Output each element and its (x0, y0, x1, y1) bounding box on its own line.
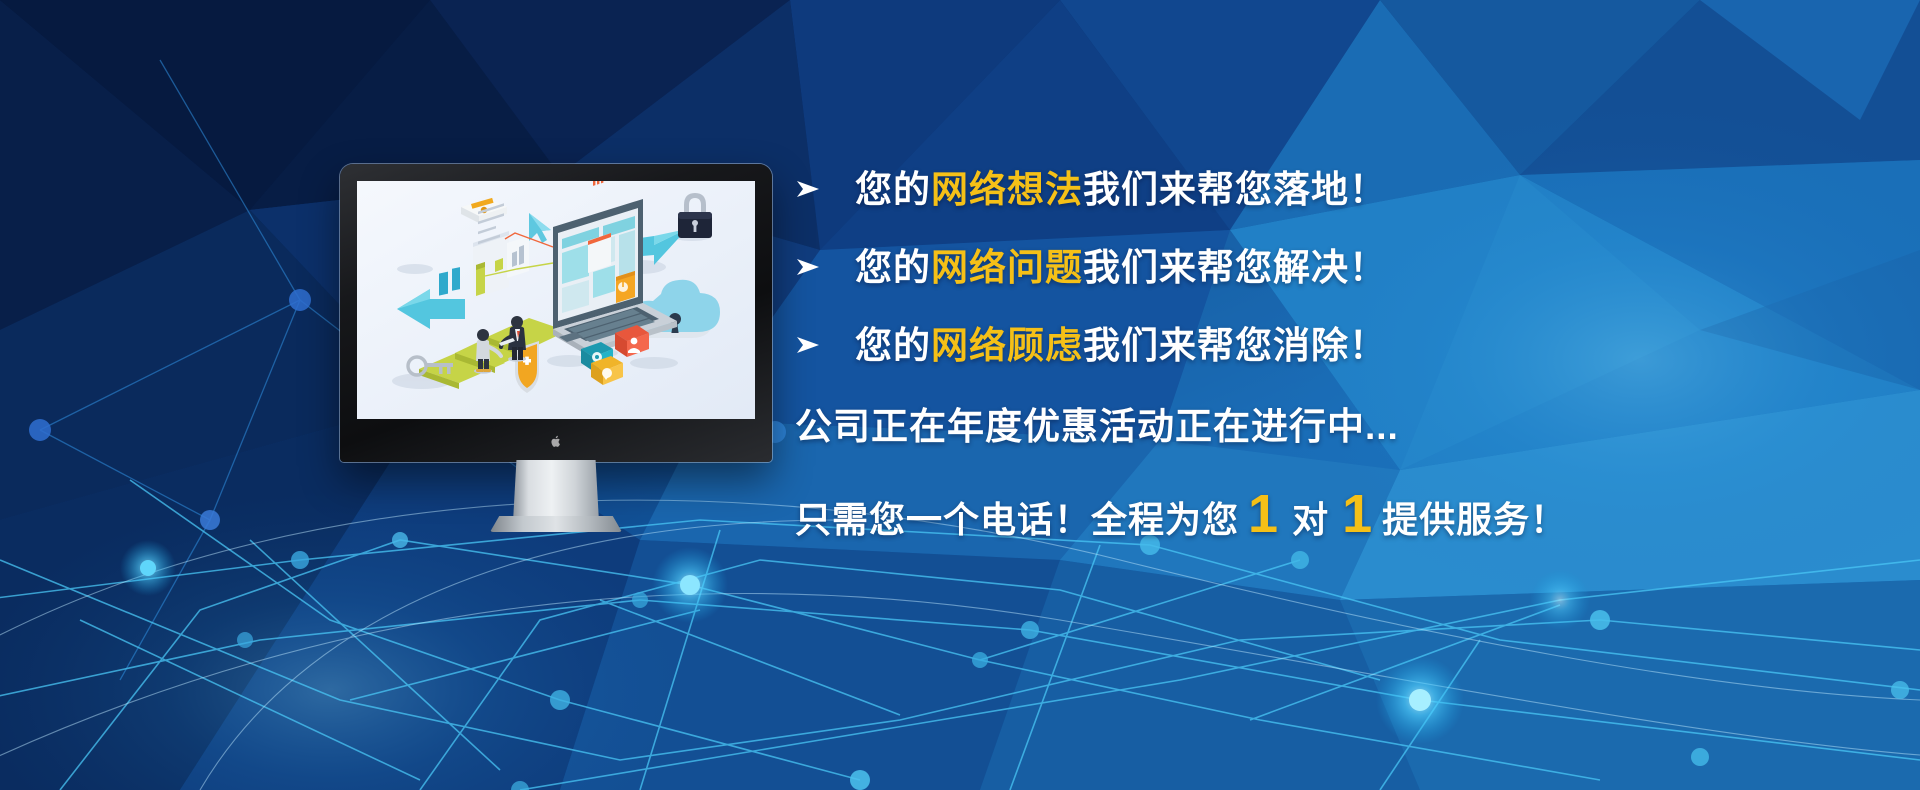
monitor-foot (490, 516, 622, 532)
closing-middle: 对 (1292, 502, 1329, 538)
apple-logo-icon (551, 435, 562, 448)
bullet-2-highlight: 网络问题 (931, 247, 1083, 288)
bullet-1-highlight: 网络想法 (931, 169, 1083, 210)
bullet-1-prefix: 您的 (855, 169, 931, 210)
bullet-item-2: 您的网络问题我们来帮您解决！ (795, 228, 1795, 306)
monitor-chin (357, 430, 755, 452)
bullet-2-prefix: 您的 (855, 247, 931, 288)
banner-copy: 您的网络想法我们来帮您落地！ 您的网络问题我们来帮您解决！ 您的网络顾虑我们来帮… (795, 150, 1795, 541)
bullet-item-1: 您的网络想法我们来帮您落地！ (795, 150, 1795, 228)
bullet-2-suffix: 我们来帮您解决！ (1083, 247, 1387, 288)
bullet-3-prefix: 您的 (855, 325, 931, 366)
closing-line: 只需您一个电话！全程为您 1 对 1 提供服务！ (795, 487, 1795, 541)
promo-banner: 您的网络想法我们来帮您落地！ 您的网络问题我们来帮您解决！ 您的网络顾虑我们来帮… (0, 0, 1920, 790)
arrow-right-icon (795, 335, 829, 355)
closing-number-2: 1 (1342, 487, 1373, 541)
bullet-item-3: 您的网络顾虑我们来帮您消除！ (795, 306, 1795, 384)
bullet-3-suffix: 我们来帮您消除！ (1083, 325, 1387, 366)
bullet-text-2: 您的网络问题我们来帮您解决！ (855, 249, 1387, 286)
closing-number-1: 1 (1248, 487, 1279, 541)
monitor-screen (357, 181, 755, 419)
arrow-right-icon (795, 257, 829, 277)
arrow-right-icon (795, 179, 829, 199)
monitor-bezel (340, 164, 772, 462)
bullet-text-1: 您的网络想法我们来帮您落地！ (855, 171, 1387, 208)
bullet-text-3: 您的网络顾虑我们来帮您消除！ (855, 327, 1387, 364)
bullet-3-highlight: 网络顾虑 (931, 325, 1083, 366)
apple-monitor (340, 164, 772, 494)
closing-part-2: 提供服务！ (1382, 502, 1567, 538)
promo-line: 公司正在年度优惠活动正在进行中... (795, 408, 1795, 445)
closing-part-1: 只需您一个电话！全程为您 (795, 502, 1239, 538)
isometric-illustration (357, 181, 755, 419)
monitor-neck (513, 460, 599, 522)
bullet-1-suffix: 我们来帮您落地！ (1083, 169, 1387, 210)
